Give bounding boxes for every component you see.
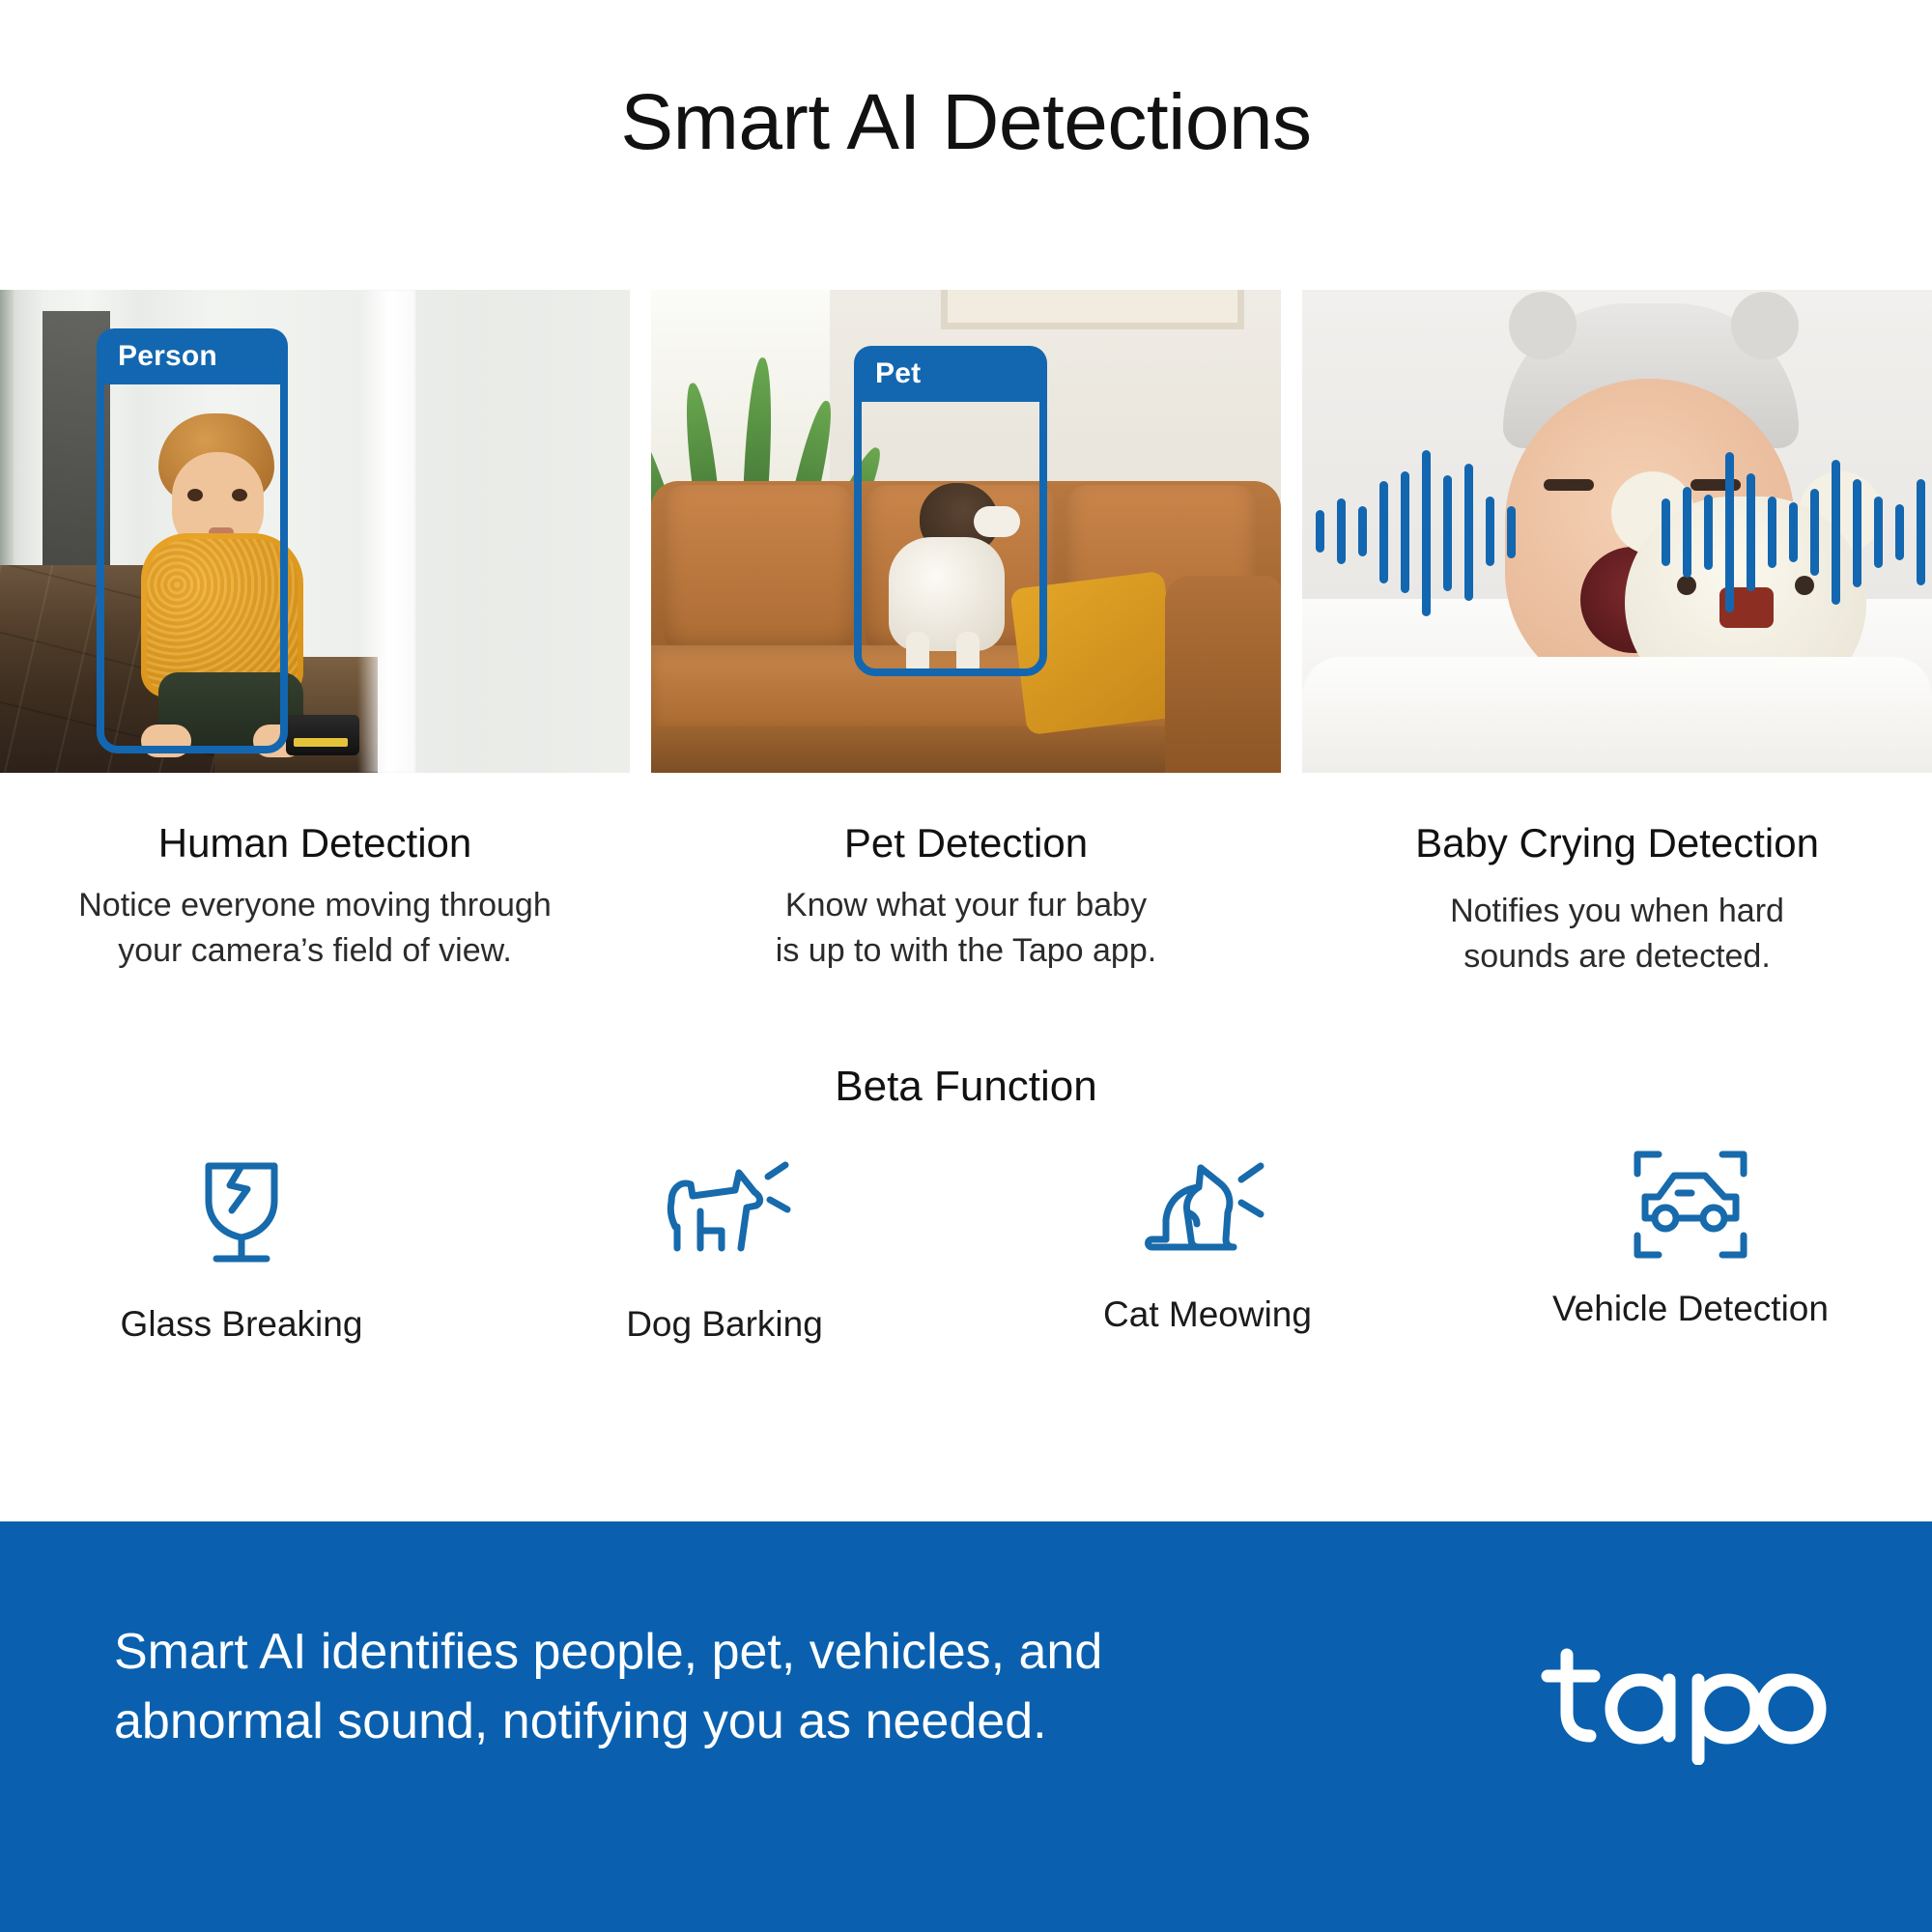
banner-text: Smart AI identifies people, pet, vehicle…	[114, 1618, 1350, 1757]
pet-detection-tag: Pet	[854, 346, 1047, 402]
captions-row: Human Detection Notice everyone moving t…	[0, 819, 1932, 980]
wall-picture-frame-decor	[941, 290, 1244, 329]
broken-glass-icon	[0, 1154, 483, 1270]
sofa-cushion-1	[665, 485, 854, 655]
vehicle-detection-icon	[1449, 1147, 1932, 1263]
beta-function-heading: Beta Function	[0, 1063, 1932, 1111]
beta-label-dog-barking: Dog Barking	[483, 1305, 966, 1345]
beta-label-glass-breaking: Glass Breaking	[0, 1305, 483, 1345]
person-detection-box: Person	[97, 328, 288, 753]
caption-body-human-line2: your camera’s field of view.	[0, 928, 630, 974]
teddy-eye-right	[1795, 576, 1814, 595]
toy-car	[286, 715, 359, 755]
toddler-in-hallway-photo: Person	[0, 290, 630, 773]
detection-card-pet: Pet	[651, 290, 1281, 773]
curtain-decor	[357, 290, 415, 773]
detection-cards-row: Person	[0, 290, 1932, 773]
caption-body-pet-line2: is up to with the Tapo app.	[651, 928, 1281, 974]
banner-text-line1: Smart AI identifies people, pet, vehicle…	[114, 1618, 1350, 1688]
beta-label-vehicle-detection: Vehicle Detection	[1449, 1290, 1932, 1329]
beta-item-vehicle-detection[interactable]: Vehicle Detection	[1449, 1154, 1932, 1345]
caption-body-baby-line2: sounds are detected.	[1302, 934, 1932, 980]
bottom-banner: Smart AI identifies people, pet, vehicle…	[0, 1521, 1932, 1932]
teddy-eye-left	[1677, 576, 1696, 595]
caption-title-human: Human Detection	[0, 819, 630, 867]
pet-detection-box: Pet	[854, 346, 1047, 676]
caption-human: Human Detection Notice everyone moving t…	[0, 819, 630, 980]
hat-pom-left	[1509, 292, 1577, 359]
beta-item-glass-breaking[interactable]: Glass Breaking	[0, 1154, 483, 1345]
page-title: Smart AI Detections	[0, 0, 1932, 166]
caption-baby: Baby Crying Detection Notifies you when …	[1302, 819, 1932, 980]
blanket-decor	[1302, 657, 1932, 773]
yawning-baby-with-teddy-photo	[1302, 290, 1932, 773]
tapo-logo	[1538, 1639, 1828, 1770]
banner-text-line2: abnormal sound, notifying you as needed.	[114, 1688, 1350, 1757]
beta-item-dog-barking[interactable]: Dog Barking	[483, 1154, 966, 1345]
caption-pet: Pet Detection Know what your fur baby is…	[651, 819, 1281, 980]
caption-title-baby: Baby Crying Detection	[1302, 819, 1932, 867]
beta-function-row: Glass Breaking Dog Barking	[0, 1154, 1932, 1345]
dog-on-leather-sofa-photo: Pet	[651, 290, 1281, 773]
caption-title-pet: Pet Detection	[651, 819, 1281, 867]
caption-body-human-line1: Notice everyone moving through	[0, 883, 630, 928]
caption-body-pet-line1: Know what your fur baby	[651, 883, 1281, 928]
beta-label-cat-meowing: Cat Meowing	[966, 1295, 1449, 1335]
beta-item-cat-meowing[interactable]: Cat Meowing	[966, 1154, 1449, 1345]
cat-meowing-icon	[966, 1151, 1449, 1266]
dog-barking-icon	[483, 1154, 966, 1270]
sofa-arm-decor	[1165, 576, 1281, 773]
person-detection-tag: Person	[97, 328, 288, 384]
hat-pom-right	[1731, 292, 1799, 359]
detection-card-human: Person	[0, 290, 630, 773]
baby-eye-left	[1544, 479, 1594, 491]
teddy-nose	[1719, 587, 1774, 628]
caption-body-baby-line1: Notifies you when hard	[1302, 889, 1932, 934]
detection-card-baby	[1302, 290, 1932, 773]
